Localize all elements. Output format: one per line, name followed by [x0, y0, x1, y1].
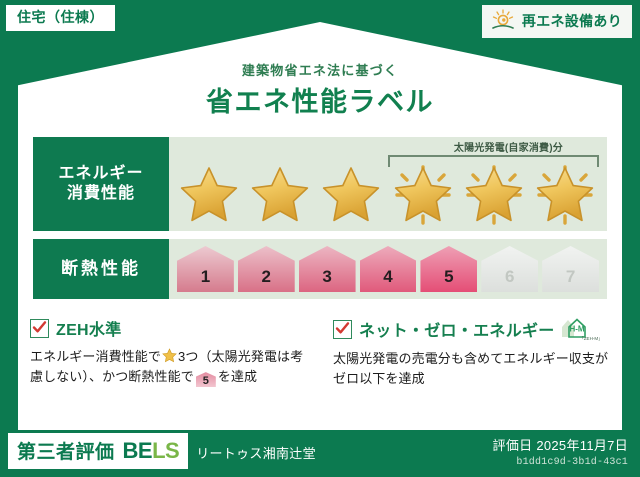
zeh-m-logo-caption: 「ZEH-M」: [579, 336, 600, 341]
solar-star-icon: [530, 161, 601, 229]
insulation-level-number: 5: [444, 268, 453, 292]
insulation-house-icon: 3: [299, 246, 356, 292]
insulation-level-number: 1: [201, 268, 210, 292]
bels-logo: BELS: [123, 438, 180, 464]
insulation-level-number: 6: [505, 268, 514, 292]
bels-badge: 第三者評価 BELS: [8, 433, 188, 469]
insulation-house-icon: 1: [177, 246, 234, 292]
check-icon: [30, 319, 49, 338]
solar-star-icon: [458, 161, 529, 229]
insulation-house-icon: 5: [420, 246, 477, 292]
achievement-callouts: ZEH水準 エネルギー消費性能で3つ（太陽光発電は考慮しない）、かつ断熱性能で5…: [30, 316, 616, 389]
footer-meta: 評価日 2025年11月7日 b1dd1c9d-3b1d-43c1: [493, 435, 628, 468]
callout-zeh-text-post: を達成: [218, 369, 257, 384]
star-icon: [244, 161, 315, 229]
evaluation-id: b1dd1c9d-3b1d-43c1: [493, 457, 628, 468]
evaluation-date-value: 2025年11月7日: [536, 438, 628, 453]
insulation-row-body: 1 2 3 4 5 6 7: [169, 239, 607, 299]
zeh-m-logo-text: H-M: [569, 325, 584, 334]
energy-performance-row: エネルギー 消費性能 太陽光発電(自家消費)分: [33, 137, 607, 231]
insulation-level-5: 5: [420, 246, 477, 292]
insulation-row-label: 断熱性能: [33, 239, 169, 299]
insulation-house-icon: 2: [238, 246, 295, 292]
star-icon: [173, 161, 244, 229]
insulation-level-3: 3: [299, 246, 356, 292]
label-subtitle: 建築物省エネ法に基づく: [0, 60, 640, 79]
evaluation-date-label: 評価日: [493, 438, 533, 453]
energy-row-label: エネルギー 消費性能: [33, 137, 169, 231]
star-icon: [162, 348, 177, 363]
building-name: リートゥス湘南辻堂: [196, 443, 316, 462]
callout-zeh-title: ZEH水準: [56, 316, 122, 340]
callout-nze-title: ネット・ゼロ・エネルギー: [359, 317, 555, 341]
energy-label-line1: エネルギー: [58, 164, 143, 184]
label-title: 省エネ性能ラベル: [0, 80, 640, 119]
callout-zeh-standard: ZEH水準 エネルギー消費性能で3つ（太陽光発電は考慮しない）、かつ断熱性能で5…: [30, 316, 313, 389]
sun-icon: [490, 9, 516, 33]
energy-star-rating: [173, 161, 601, 229]
insulation-house-icon: 4: [360, 246, 417, 292]
insulation-level-number: 4: [383, 268, 392, 292]
insulation-level-7: 7: [542, 246, 599, 292]
footer-evaluation: 第三者評価 BELS リートゥス湘南辻堂: [8, 433, 316, 469]
insulation-level-number: 2: [262, 268, 271, 292]
callout-zeh-header: ZEH水準: [30, 316, 313, 340]
callout-zeh-text-pre: エネルギー消費性能で: [30, 349, 161, 364]
bels-logo-part1: BE: [123, 438, 153, 463]
solar-bracket: [388, 155, 599, 167]
inline-insulation-badge: 5: [196, 372, 216, 387]
callout-nze-body: 太陽光発電の売電分も含めてエネルギー収支がゼロ以下を達成: [333, 349, 616, 389]
insulation-level-1: 1: [177, 246, 234, 292]
solar-star-icon: [387, 161, 458, 229]
evaluation-date: 評価日 2025年11月7日: [493, 435, 628, 454]
solar-bracket-label: 太陽光発電(自家消費)分: [410, 139, 607, 154]
renewable-equipment-badge: 再エネ設備あり: [482, 5, 632, 38]
insulation-level-2: 2: [238, 246, 295, 292]
insulation-level-number: 3: [322, 268, 331, 292]
energy-row-body: 太陽光発電(自家消費)分: [169, 137, 607, 231]
energy-performance-label: 住宅（住棟） 再エネ設備あり 建築物省エネ法に基づく 省エネ性能ラベル エネルギ…: [0, 0, 640, 477]
zeh-m-logo-icon: H-M 「ZEH-M」: [560, 316, 600, 342]
star-icon: [316, 161, 387, 229]
insulation-level-4: 4: [360, 246, 417, 292]
energy-label-line2: 消費性能: [67, 184, 135, 204]
house-type-tag: 住宅（住棟）: [6, 5, 115, 31]
bels-jp-label: 第三者評価: [17, 437, 115, 464]
insulation-level-6: 6: [481, 246, 538, 292]
callout-zeh-body: エネルギー消費性能で3つ（太陽光発電は考慮しない）、かつ断熱性能で5を達成: [30, 347, 313, 387]
insulation-level-scale: 1 2 3 4 5 6 7: [177, 244, 599, 294]
callout-net-zero-energy: ネット・ゼロ・エネルギー H-M 「ZEH-M」 太陽光発電の売電分も含めてエネ…: [333, 316, 616, 389]
bels-logo-part2: LS: [152, 438, 179, 463]
insulation-house-icon: 6: [481, 246, 538, 292]
renewable-badge-label: 再エネ設備あり: [522, 11, 622, 31]
insulation-level-number: 7: [566, 268, 575, 292]
insulation-performance-row: 断熱性能 1 2 3 4 5 6 7: [33, 239, 607, 299]
check-icon: [333, 320, 352, 339]
insulation-house-icon: 7: [542, 246, 599, 292]
callout-nze-header: ネット・ゼロ・エネルギー H-M 「ZEH-M」: [333, 316, 616, 342]
